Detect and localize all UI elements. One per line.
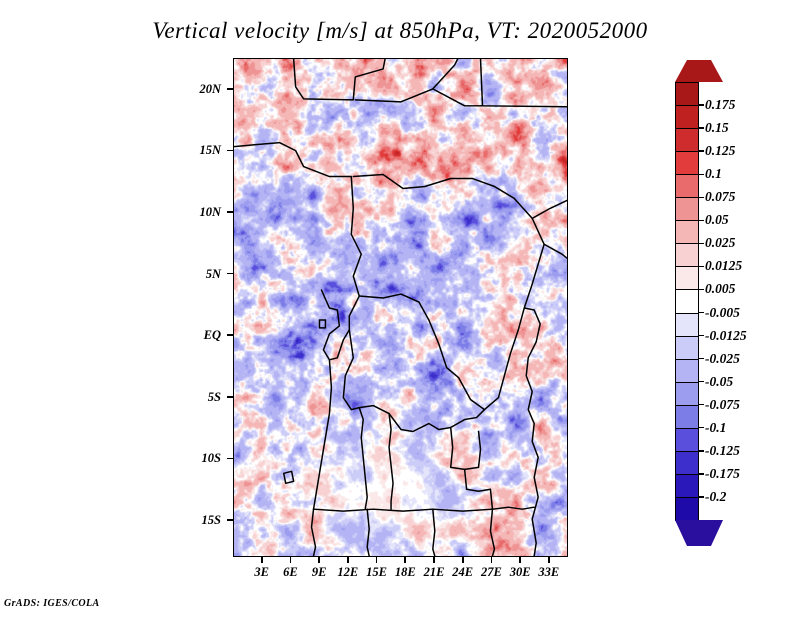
colorbar-tick-mark xyxy=(699,496,704,497)
colorbar-tick-mark xyxy=(699,450,704,451)
colorbar-segment xyxy=(675,313,699,337)
colorbar-label-0p125: 0.125 xyxy=(705,144,735,158)
colorbar-segment xyxy=(675,405,699,429)
colorbar-label-0p15: 0.15 xyxy=(705,121,729,135)
colorbar-label-0p0125: 0.0125 xyxy=(705,259,742,273)
colorbar-label-neg0p2: -0.2 xyxy=(705,490,726,504)
colorbar-segment xyxy=(675,359,699,383)
colorbar-label-neg0p05: -0.05 xyxy=(705,375,733,389)
longitude-tick-mark xyxy=(433,557,435,563)
colorbar-label-neg0p1: -0.1 xyxy=(705,421,726,435)
latitude-label-20N: 20N xyxy=(163,82,221,97)
longitude-tick-mark xyxy=(376,557,378,563)
colorbar-tick-mark xyxy=(699,197,704,198)
colorbar-segment xyxy=(675,497,699,521)
colorbar-label-neg0p075: -0.075 xyxy=(705,398,740,412)
latitude-tick-mark xyxy=(227,88,233,90)
colorbar-segment xyxy=(675,82,699,106)
colorbar-segment xyxy=(675,197,699,221)
colorbar-segment xyxy=(675,174,699,198)
longitude-label-33E: 33E xyxy=(525,565,573,580)
colorbar-tick-mark xyxy=(699,127,704,128)
latitude-label-15S: 15S xyxy=(163,513,221,528)
colorbar-label-0p025: 0.025 xyxy=(705,236,735,250)
longitude-tick-mark xyxy=(491,557,493,563)
colorbar-tick-mark xyxy=(699,174,704,175)
colorbar-label-0p1: 0.1 xyxy=(705,167,722,181)
colorbar-segment xyxy=(675,220,699,244)
colorbar-label-neg0p0125: -0.0125 xyxy=(705,329,747,343)
colorbar-label-neg0p005: -0.005 xyxy=(705,306,740,320)
longitude-tick-mark xyxy=(318,557,320,563)
colorbar-legend: 0.1750.150.1250.10.0750.050.0250.01250.0… xyxy=(675,0,699,618)
longitude-tick-mark xyxy=(462,557,464,563)
latitude-tick-mark xyxy=(227,519,233,521)
latitude-label-10S: 10S xyxy=(163,451,221,466)
colorbar-tick-mark xyxy=(699,335,704,336)
colorbar-segment xyxy=(675,336,699,360)
colorbar-label-0p05: 0.05 xyxy=(705,213,729,227)
longitude-tick-mark xyxy=(404,557,406,563)
colorbar-bottom-arrow xyxy=(675,520,723,546)
colorbar-tick-mark xyxy=(699,243,704,244)
colorbar-label-0p005: 0.005 xyxy=(705,282,735,296)
latitude-tick-mark xyxy=(227,273,233,275)
colorbar-tick-mark xyxy=(699,381,704,382)
longitude-tick-mark xyxy=(347,557,349,563)
longitude-tick-mark xyxy=(548,557,550,563)
latitude-label-5N: 5N xyxy=(163,267,221,282)
latitude-tick-mark xyxy=(227,334,233,336)
colorbar-tick-mark xyxy=(699,312,704,313)
colorbar-label-neg0p175: -0.175 xyxy=(705,467,740,481)
colorbar-tick-mark xyxy=(699,427,704,428)
latitude-label-5S: 5S xyxy=(163,390,221,405)
colorbar-segment xyxy=(675,428,699,452)
grads-credit: GrADS: IGES/COLA xyxy=(4,598,100,609)
colorbar-tick-mark xyxy=(699,150,704,151)
longitude-tick-mark xyxy=(290,557,292,563)
latitude-tick-mark xyxy=(227,396,233,398)
colorbar-tick-mark xyxy=(699,404,704,405)
colorbar-label-0p175: 0.175 xyxy=(705,98,735,112)
colorbar-tick-mark xyxy=(699,473,704,474)
latitude-label-15N: 15N xyxy=(163,143,221,158)
colorbar-tick-mark xyxy=(699,220,704,221)
colorbar-label-0p075: 0.075 xyxy=(705,190,735,204)
colorbar-segment xyxy=(675,266,699,290)
colorbar-segment xyxy=(675,451,699,475)
latitude-label-EQ: EQ xyxy=(163,328,221,343)
colorbar-segment xyxy=(675,243,699,267)
latitude-tick-mark xyxy=(227,150,233,152)
colorbar-segment xyxy=(675,105,699,129)
colorbar-segment xyxy=(675,289,699,313)
colorbar-label-neg0p025: -0.025 xyxy=(705,352,740,366)
latitude-tick-mark xyxy=(227,211,233,213)
colorbar-tick-mark xyxy=(699,289,704,290)
longitude-tick-mark xyxy=(519,557,521,563)
colorbar-tick-mark xyxy=(699,358,704,359)
colorbar-segment xyxy=(675,382,699,406)
map-plot-area xyxy=(233,58,568,557)
colorbar-tick-mark xyxy=(699,266,704,267)
colorbar-tick-mark xyxy=(699,104,704,105)
latitude-tick-mark xyxy=(227,458,233,460)
longitude-tick-mark xyxy=(261,557,263,563)
colorbar-segment xyxy=(675,128,699,152)
colorbar-segment xyxy=(675,474,699,498)
latitude-label-10N: 10N xyxy=(163,205,221,220)
colorbar-top-arrow xyxy=(675,60,723,82)
country-borders-overlay xyxy=(234,59,567,556)
colorbar-segment xyxy=(675,151,699,175)
colorbar-label-neg0p125: -0.125 xyxy=(705,444,740,458)
